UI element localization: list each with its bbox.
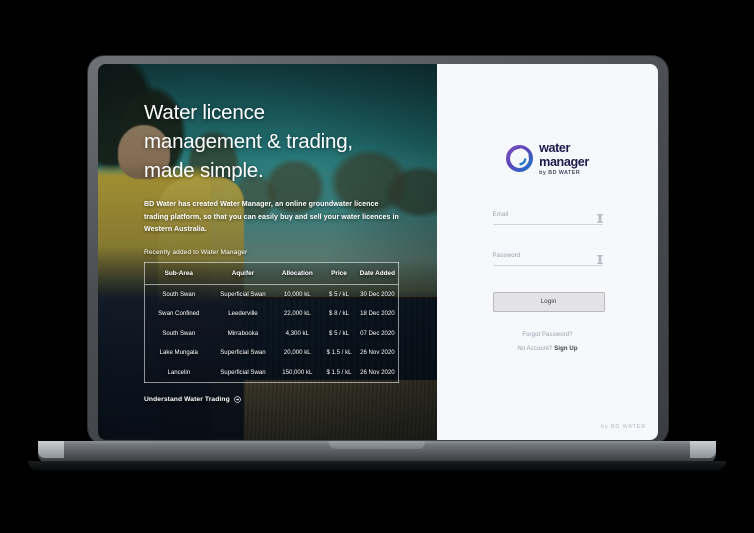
cell-allocation: 22,000 kL — [273, 304, 321, 323]
cell-price: $ 1.5 / kL — [321, 362, 356, 382]
table-row[interactable]: South Swan Superficial Swan 10,000 kL $ … — [145, 284, 399, 304]
hero-headline-line-2: management & trading, — [144, 127, 411, 156]
understand-water-trading-link[interactable]: Understand Water Trading — [144, 396, 411, 403]
cell-price: $ 5 / kL — [321, 284, 356, 304]
password-field[interactable]: Password — [493, 251, 603, 266]
cell-price: $ 5 / kL — [321, 324, 356, 343]
table-caption: Recently added to Water Manager — [144, 249, 411, 256]
laptop-base-shadow — [28, 461, 726, 471]
cell-aquifer: Superficial Swan — [213, 284, 274, 304]
hero-content: Water licence management & trading, made… — [98, 64, 437, 403]
hero-headline: Water licence management & trading, made… — [144, 98, 411, 185]
table-row[interactable]: South Swan Mirrabooka 4,300 kL $ 5 / kL … — [145, 324, 399, 343]
cell-date-added: 30 Dec 2020 — [357, 284, 399, 304]
cell-sub-area: Lancelin — [145, 362, 213, 382]
cell-allocation: 150,000 kL — [273, 362, 321, 382]
table-row[interactable]: Swan Confined Leederville 22,000 kL $ 8 … — [145, 304, 399, 323]
text-cursor-icon — [597, 251, 603, 260]
table-body: South Swan Superficial Swan 10,000 kL $ … — [145, 284, 399, 382]
cell-sub-area: Lake Mungala — [145, 343, 213, 362]
no-account-row: No Account? Sign Up — [517, 346, 577, 352]
email-field[interactable]: Email — [493, 210, 603, 225]
cell-sub-area: South Swan — [145, 284, 213, 304]
water-ring-logo-icon — [506, 145, 533, 172]
laptop-base — [38, 441, 716, 463]
cell-aquifer: Leederville — [213, 304, 274, 323]
cell-allocation: 20,000 kL — [273, 343, 321, 362]
cell-aquifer: Mirrabooka — [213, 324, 274, 343]
login-panel: water manager by BD WATER Email — [437, 64, 658, 440]
no-account-label: No Account? — [517, 346, 554, 352]
screenshot-stage: Water licence management & trading, made… — [0, 0, 754, 533]
brand-word-water: water — [539, 142, 589, 155]
cell-price: $ 1.5 / kL — [321, 343, 356, 362]
hero-headline-line-1: Water licence — [144, 98, 411, 127]
recent-licences-table: Sub-Area Aquifer Allocation Price Date A… — [144, 262, 399, 383]
cell-price: $ 8 / kL — [321, 304, 356, 323]
column-header-date-added: Date Added — [357, 262, 399, 284]
table-header-row: Sub-Area Aquifer Allocation Price Date A… — [145, 262, 399, 284]
text-cursor-icon — [597, 210, 603, 219]
login-form: Email Password — [493, 210, 603, 312]
laptop-base-foot-left — [38, 441, 64, 458]
brand-lockup: water manager by BD WATER — [506, 142, 589, 176]
table-row[interactable]: Lancelin Superficial Swan 150,000 kL $ 1… — [145, 362, 399, 382]
login-footer-credit: by BD WATER — [601, 424, 646, 430]
hero-paragraph: BD Water has created Water Manager, an o… — [144, 198, 402, 235]
hero-panel: Water licence management & trading, made… — [98, 64, 437, 440]
forgot-password-link[interactable]: Forgot Password? — [522, 332, 572, 338]
cell-allocation: 4,300 kL — [273, 324, 321, 343]
cell-sub-area: South Swan — [145, 324, 213, 343]
cell-sub-area: Swan Confined — [145, 304, 213, 323]
laptop-base-foot-right — [690, 441, 716, 458]
column-header-price: Price — [321, 262, 356, 284]
password-field-placeholder: Password — [493, 252, 521, 259]
cell-date-added: 26 Nov 2020 — [357, 362, 399, 382]
arrow-circle-icon — [234, 396, 241, 403]
understand-water-trading-label: Understand Water Trading — [144, 396, 230, 403]
login-button[interactable]: Login — [493, 292, 605, 312]
sign-up-link[interactable]: Sign Up — [554, 346, 577, 352]
column-header-allocation: Allocation — [273, 262, 321, 284]
column-header-sub-area: Sub-Area — [145, 262, 213, 284]
cell-aquifer: Superficial Swan — [213, 343, 274, 362]
email-field-placeholder: Email — [493, 211, 509, 218]
brand-word-manager: manager — [539, 156, 589, 169]
cell-date-added: 26 Nov 2020 — [357, 343, 399, 362]
cell-aquifer: Superficial Swan — [213, 362, 274, 382]
brand-tagline: by BD WATER — [539, 171, 589, 176]
column-header-aquifer: Aquifer — [213, 262, 274, 284]
cell-date-added: 07 Dec 2020 — [357, 324, 399, 343]
cell-date-added: 18 Dec 2020 — [357, 304, 399, 323]
table-row[interactable]: Lake Mungala Superficial Swan 20,000 kL … — [145, 343, 399, 362]
cell-allocation: 10,000 kL — [273, 284, 321, 304]
hero-headline-line-3: made simple. — [144, 156, 411, 185]
brand-text: water manager by BD WATER — [539, 142, 589, 176]
laptop-screen: Water licence management & trading, made… — [98, 64, 658, 440]
